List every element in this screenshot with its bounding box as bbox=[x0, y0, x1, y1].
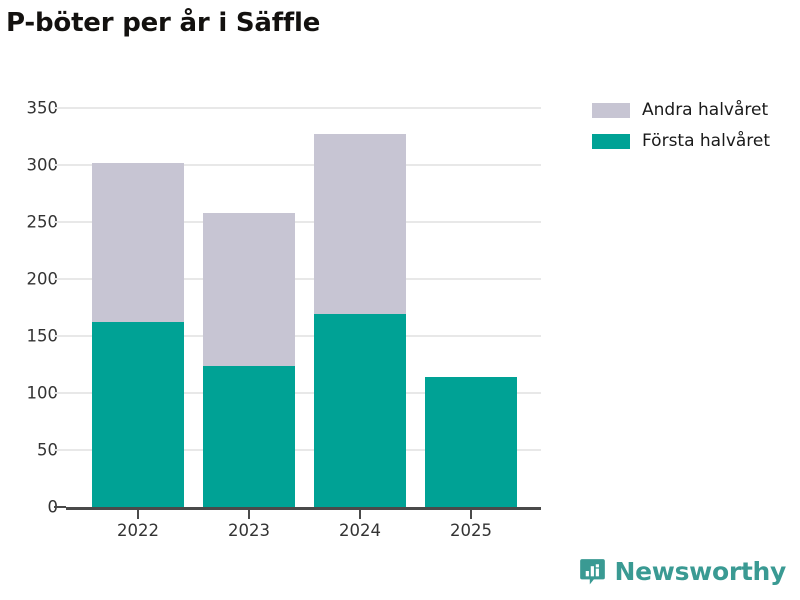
x-tick-label-2022: 2022 bbox=[92, 521, 184, 540]
legend-item[interactable]: Första halvåret bbox=[592, 127, 797, 155]
chart-legend: Andra halvåretFörsta halvåret bbox=[592, 96, 797, 158]
y-tick-mark bbox=[54, 335, 66, 337]
x-tick-mark bbox=[248, 510, 250, 519]
y-tick-mark bbox=[54, 278, 66, 280]
bar-segment-andra-halvaret[interactable] bbox=[203, 213, 295, 366]
x-tick-mark bbox=[137, 510, 139, 519]
x-tick-label-2023: 2023 bbox=[203, 521, 295, 540]
legend-swatch bbox=[592, 103, 630, 118]
bar-segment-forsta-halvaret[interactable] bbox=[203, 366, 295, 507]
legend-label: Andra halvåret bbox=[642, 100, 768, 120]
y-tick-label: 100 bbox=[6, 384, 58, 403]
legend-label: Första halvåret bbox=[642, 131, 770, 151]
y-axis: 050100150200250300350 bbox=[0, 108, 58, 507]
legend-item[interactable]: Andra halvåret bbox=[592, 96, 797, 124]
y-tick-mark bbox=[54, 107, 66, 109]
newsworthy-logo: Newsworthy bbox=[579, 557, 787, 586]
bar-segment-forsta-halvaret[interactable] bbox=[425, 377, 517, 507]
y-tick-label: 250 bbox=[6, 213, 58, 232]
y-tick-label: 200 bbox=[6, 270, 58, 289]
x-tick-label-2024: 2024 bbox=[314, 521, 406, 540]
brand-name: Newsworthy bbox=[615, 557, 787, 586]
x-axis: 2022202320242025 bbox=[66, 507, 541, 553]
y-tick-label: 150 bbox=[6, 327, 58, 346]
plot-area bbox=[66, 108, 541, 507]
bar-segment-forsta-halvaret[interactable] bbox=[314, 314, 406, 507]
x-tick-mark bbox=[359, 510, 361, 519]
bar-stack-2024[interactable] bbox=[314, 134, 406, 507]
bar-stack-2023[interactable] bbox=[203, 213, 295, 507]
x-tick-mark bbox=[470, 510, 472, 519]
y-tick-label: 50 bbox=[6, 441, 58, 460]
y-tick-label: 0 bbox=[6, 498, 58, 517]
bar-segment-forsta-halvaret[interactable] bbox=[92, 322, 184, 507]
bar-segment-andra-halvaret[interactable] bbox=[314, 134, 406, 314]
y-tick-label: 350 bbox=[6, 99, 58, 118]
bar-stack-2025[interactable] bbox=[425, 377, 517, 507]
y-tick-label: 300 bbox=[6, 156, 58, 175]
y-tick-mark bbox=[54, 506, 66, 508]
x-tick-label-2025: 2025 bbox=[425, 521, 517, 540]
legend-swatch bbox=[592, 134, 630, 149]
gridline bbox=[66, 107, 541, 109]
page-title: P-böter per år i Säffle bbox=[6, 8, 320, 38]
y-tick-mark bbox=[54, 164, 66, 166]
bar-stack-2022[interactable] bbox=[92, 163, 184, 507]
bar-segment-andra-halvaret[interactable] bbox=[92, 163, 184, 323]
y-tick-mark bbox=[54, 449, 66, 451]
y-tick-mark bbox=[54, 392, 66, 394]
y-tick-mark bbox=[54, 221, 66, 223]
speech-bubble-bar-chart-icon bbox=[579, 558, 606, 585]
